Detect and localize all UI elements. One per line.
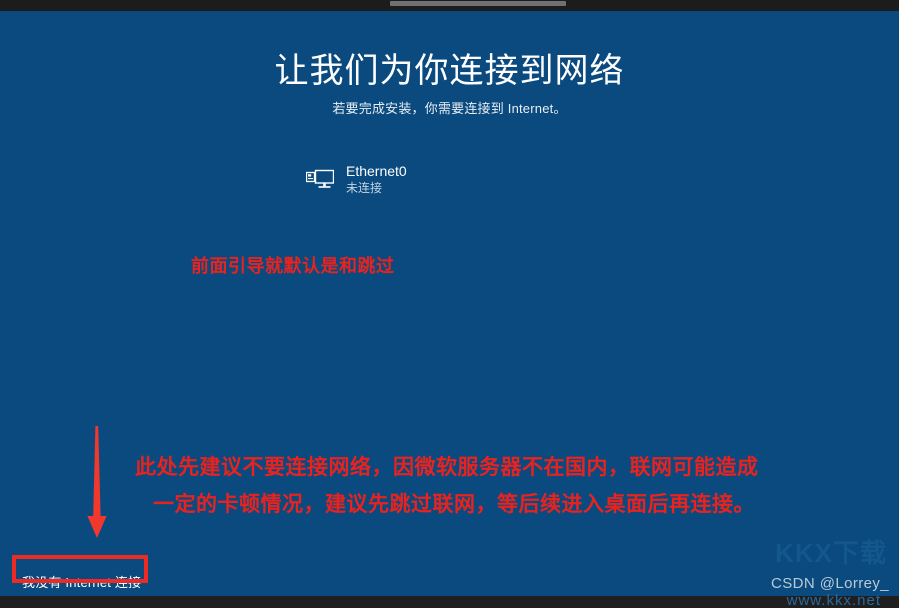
kkx-watermark-logo: KKX下载 [775,533,887,570]
page-title: 让我们为你连接到网络 [0,49,899,93]
network-name: Ethernet0 [346,163,407,181]
network-status: 未连接 [346,181,407,196]
annotation-highlight-box [12,555,148,583]
screenshot-root: 让我们为你连接到网络 若要完成安装，你需要连接到 Internet。 [0,0,899,608]
top-chrome-strip [0,0,899,11]
ethernet-icon [306,167,334,191]
page-subtitle: 若要完成安装，你需要连接到 Internet。 [0,98,899,117]
kkx-watermark-url: www.kkx.net [787,592,881,608]
csdn-watermark: CSDN @Lorrey_ [771,575,889,592]
bottom-chrome-strip: www.kkx.net [0,596,899,608]
top-scrollbar-sliver[interactable] [390,1,566,6]
network-list: Ethernet0 未连接 [300,159,620,200]
annotation-paragraph-line-2: 一定的卡顿情况，建议先跳过联网，等后续进入桌面后再连接。 [135,486,845,523]
down-arrow-icon [78,424,116,540]
annotation-note-top: 前面引导就默认是和跳过 [191,252,395,278]
network-item-text: Ethernet0 未连接 [346,163,407,196]
network-list-item[interactable]: Ethernet0 未连接 [300,159,620,200]
annotation-paragraph-line-1: 此处先建议不要连接网络，因微软服务器不在国内，联网可能造成 [135,449,845,486]
annotation-paragraph: 此处先建议不要连接网络，因微软服务器不在国内，联网可能造成 一定的卡顿情况，建议… [135,449,845,523]
